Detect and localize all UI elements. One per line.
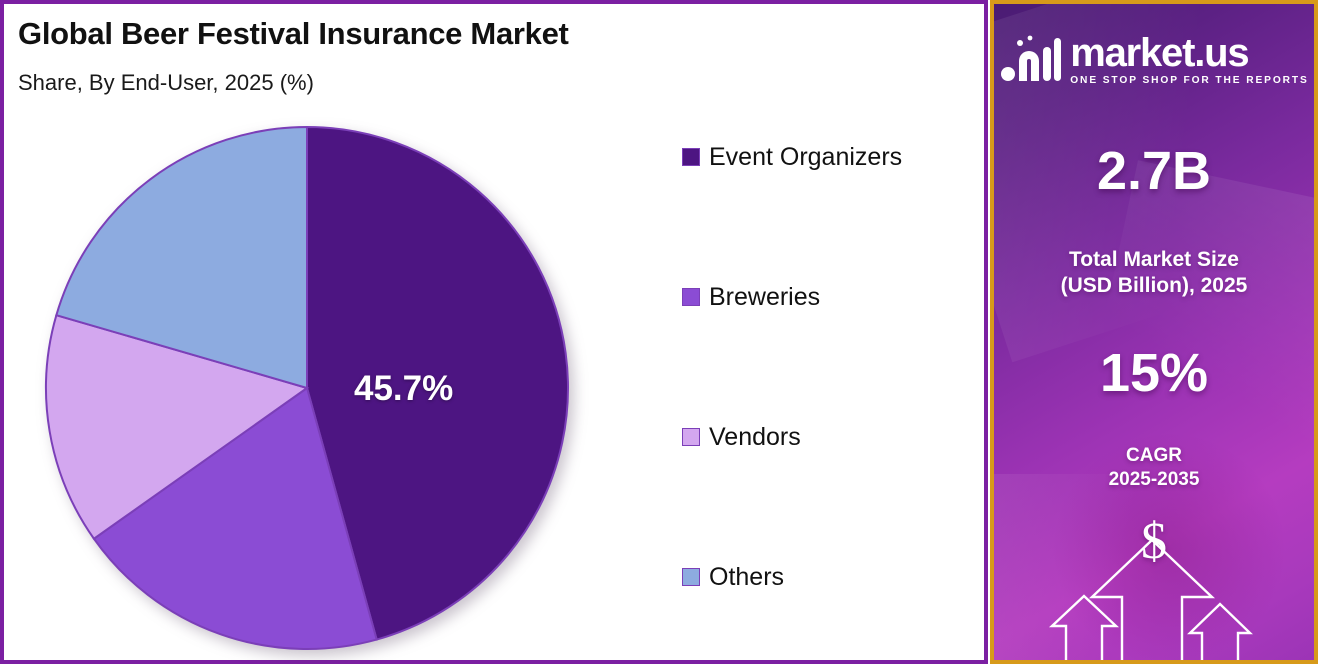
legend-item-others[interactable]: Others xyxy=(682,560,784,594)
legend-swatch-event-organizers xyxy=(682,148,700,166)
stat-caption-line-1: CAGR xyxy=(1126,445,1182,466)
stat-caption-market-size: Total Market Size (USD Billion), 2025 xyxy=(994,247,1314,298)
infographic-root: Global Beer Festival Insurance Market Sh… xyxy=(0,0,1318,664)
stat-caption-line-1: Total Market Size xyxy=(1069,248,1239,271)
brand-panel: market.us ONE STOP SHOP FOR THE REPORTS … xyxy=(990,0,1318,664)
legend-label-vendors: Vendors xyxy=(709,425,801,450)
legend-label-event-organizers: Event Organizers xyxy=(709,145,902,170)
legend-item-breweries[interactable]: Breweries xyxy=(682,280,820,314)
logo-wordmark: market.us xyxy=(1070,34,1309,72)
legend-item-event-organizers[interactable]: Event Organizers xyxy=(682,140,902,174)
legend-swatch-vendors xyxy=(682,428,700,446)
market-us-logo-icon xyxy=(999,34,1061,84)
stat-caption-line-2: 2025-2035 xyxy=(1109,469,1200,490)
legend-swatch-breweries xyxy=(682,288,700,306)
page-title: Global Beer Festival Insurance Market xyxy=(18,16,569,52)
legend-label-others: Others xyxy=(709,565,784,590)
stat-value-cagr: 15% xyxy=(994,346,1314,400)
logo-text-block: market.us ONE STOP SHOP FOR THE REPORTS xyxy=(1070,34,1309,86)
stat-caption-line-2: (USD Billion), 2025 xyxy=(1061,274,1248,297)
legend-swatch-others xyxy=(682,568,700,586)
pie-chart-svg xyxy=(44,124,574,654)
brand-logo[interactable]: market.us ONE STOP SHOP FOR THE REPORTS xyxy=(994,34,1314,86)
stat-caption-cagr: CAGR 2025-2035 xyxy=(994,444,1314,492)
growth-arrows-icon xyxy=(994,530,1314,660)
chart-subtitle: Share, By End-User, 2025 (%) xyxy=(18,70,314,96)
stat-value-market-size: 2.7B xyxy=(994,144,1314,198)
chart-panel: Global Beer Festival Insurance Market Sh… xyxy=(0,0,988,664)
pie-chart: 45.7% xyxy=(44,124,574,654)
logo-tagline: ONE STOP SHOP FOR THE REPORTS xyxy=(1070,75,1309,86)
legend-item-vendors[interactable]: Vendors xyxy=(682,420,801,454)
legend-label-breweries: Breweries xyxy=(709,285,820,310)
